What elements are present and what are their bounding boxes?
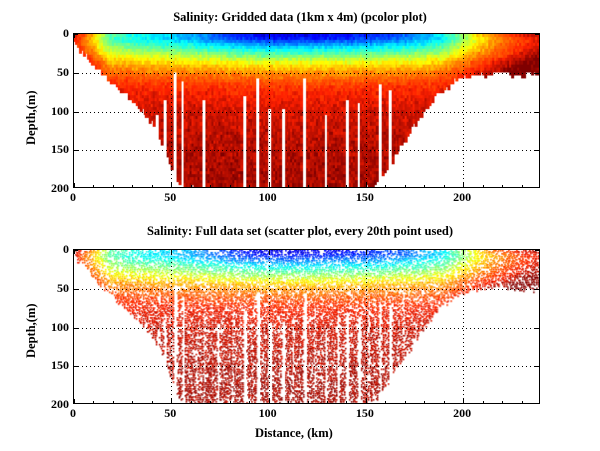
x-minor-tick bbox=[463, 401, 464, 403]
x-minor-tick bbox=[288, 401, 289, 403]
x-minor-tick bbox=[249, 185, 250, 187]
x-minor-tick bbox=[288, 185, 289, 187]
x-tick-label: 150 bbox=[345, 406, 385, 421]
gridline-horizontal bbox=[74, 366, 539, 367]
x-minor-tick bbox=[269, 185, 270, 187]
x-minor-tick bbox=[424, 185, 425, 187]
x-minor-tick bbox=[171, 185, 172, 187]
x-minor-tick bbox=[113, 185, 114, 187]
x-minor-tick bbox=[463, 185, 464, 187]
x-minor-tick bbox=[444, 185, 445, 187]
x-minor-tick bbox=[405, 401, 406, 403]
x-minor-tick bbox=[230, 185, 231, 187]
x-minor-tick bbox=[522, 185, 523, 187]
x-tick-label: 50 bbox=[150, 190, 190, 205]
x-tick-label: 100 bbox=[248, 190, 288, 205]
y-tick-label: 150 bbox=[31, 358, 69, 373]
x-tick-top bbox=[463, 250, 464, 254]
x-tick-top bbox=[171, 250, 172, 254]
x-minor-tick bbox=[308, 185, 309, 187]
x-minor-tick bbox=[366, 185, 367, 187]
x-minor-tick bbox=[522, 401, 523, 403]
x-tick-label: 100 bbox=[248, 406, 288, 421]
x-minor-tick bbox=[366, 401, 367, 403]
x-minor-tick bbox=[171, 401, 172, 403]
gridline-vertical bbox=[463, 250, 464, 403]
y-tick-right bbox=[535, 328, 539, 329]
x-tick-top bbox=[366, 250, 367, 254]
x-minor-tick bbox=[405, 185, 406, 187]
x-tick-top bbox=[171, 34, 172, 38]
gridline-horizontal bbox=[74, 112, 539, 113]
gridline-horizontal bbox=[74, 289, 539, 290]
y-tick bbox=[74, 112, 78, 113]
x-minor-tick bbox=[385, 401, 386, 403]
x-minor-tick bbox=[385, 185, 386, 187]
x-minor-tick bbox=[113, 401, 114, 403]
x-minor-tick bbox=[327, 185, 328, 187]
x-tick-top bbox=[269, 34, 270, 38]
x-minor-tick bbox=[152, 401, 153, 403]
y-tick bbox=[74, 150, 78, 151]
panel-scatter-title: Salinity: Full data set (scatter plot, e… bbox=[0, 224, 600, 239]
y-tick-label: 100 bbox=[31, 104, 69, 119]
y-tick-label: 50 bbox=[31, 281, 69, 296]
y-tick-right bbox=[535, 250, 539, 251]
gridline-vertical bbox=[171, 34, 172, 187]
x-minor-tick bbox=[502, 401, 503, 403]
gridline-horizontal bbox=[74, 73, 539, 74]
gridline-vertical bbox=[366, 34, 367, 187]
x-minor-tick bbox=[249, 401, 250, 403]
x-tick-top bbox=[269, 250, 270, 254]
x-tick-label: 50 bbox=[150, 406, 190, 421]
y-tick-right bbox=[535, 73, 539, 74]
panel-scatter: Salinity: Full data set (scatter plot, e… bbox=[0, 215, 600, 451]
y-tick-right bbox=[535, 289, 539, 290]
x-minor-tick bbox=[424, 401, 425, 403]
x-minor-tick bbox=[191, 185, 192, 187]
x-minor-tick bbox=[346, 401, 347, 403]
x-tick-label: 200 bbox=[442, 406, 482, 421]
y-tick-label: 100 bbox=[31, 320, 69, 335]
y-tick-right bbox=[535, 150, 539, 151]
gridline-horizontal bbox=[74, 150, 539, 151]
x-minor-tick bbox=[327, 401, 328, 403]
x-minor-tick bbox=[269, 401, 270, 403]
x-minor-tick bbox=[93, 401, 94, 403]
gridline-vertical bbox=[366, 250, 367, 403]
x-minor-tick bbox=[210, 401, 211, 403]
x-minor-tick bbox=[132, 401, 133, 403]
x-minor-tick bbox=[308, 401, 309, 403]
gridline-vertical bbox=[171, 250, 172, 403]
y-tick-label: 0 bbox=[31, 26, 69, 41]
y-tick-label: 0 bbox=[31, 242, 69, 257]
x-minor-tick bbox=[230, 401, 231, 403]
x-tick-label: 150 bbox=[345, 190, 385, 205]
gridline-vertical bbox=[269, 34, 270, 187]
y-tick-label: 150 bbox=[31, 142, 69, 157]
gridline-vertical bbox=[463, 34, 464, 187]
x-tick-top bbox=[74, 34, 75, 38]
y-tick bbox=[74, 328, 78, 329]
x-tick-label: 200 bbox=[442, 190, 482, 205]
panel-scatter-xlabel: Distance, (km) bbox=[255, 426, 333, 441]
panel-scatter-axes[interactable] bbox=[73, 249, 540, 404]
x-minor-tick bbox=[93, 185, 94, 187]
y-tick-right bbox=[535, 112, 539, 113]
panel-gridded: Salinity: Gridded data (1km x 4m) (pcolo… bbox=[0, 0, 600, 215]
x-tick-top bbox=[74, 250, 75, 254]
x-tick-label: 0 bbox=[53, 190, 93, 205]
x-minor-tick bbox=[444, 401, 445, 403]
x-minor-tick bbox=[483, 401, 484, 403]
gridline-vertical bbox=[269, 250, 270, 403]
panel-gridded-axes[interactable] bbox=[73, 33, 540, 188]
x-minor-tick bbox=[132, 185, 133, 187]
x-tick-top bbox=[366, 34, 367, 38]
x-tick-top bbox=[463, 34, 464, 38]
x-minor-tick bbox=[346, 185, 347, 187]
y-tick bbox=[74, 289, 78, 290]
x-minor-tick bbox=[502, 185, 503, 187]
y-tick bbox=[74, 366, 78, 367]
x-minor-tick bbox=[74, 401, 75, 403]
x-tick-label: 0 bbox=[53, 406, 93, 421]
panel-gridded-plot-canvas bbox=[74, 34, 539, 187]
y-tick-label: 50 bbox=[31, 65, 69, 80]
y-tick bbox=[74, 73, 78, 74]
y-tick-right bbox=[535, 34, 539, 35]
x-minor-tick bbox=[152, 185, 153, 187]
y-tick-right bbox=[535, 366, 539, 367]
salinity-section-figure: Salinity: Gridded data (1km x 4m) (pcolo… bbox=[0, 0, 600, 451]
gridline-horizontal bbox=[74, 328, 539, 329]
x-minor-tick bbox=[74, 185, 75, 187]
panel-scatter-plot-canvas bbox=[74, 250, 539, 403]
x-minor-tick bbox=[483, 185, 484, 187]
x-minor-tick bbox=[191, 401, 192, 403]
x-minor-tick bbox=[210, 185, 211, 187]
panel-gridded-title: Salinity: Gridded data (1km x 4m) (pcolo… bbox=[0, 10, 600, 25]
